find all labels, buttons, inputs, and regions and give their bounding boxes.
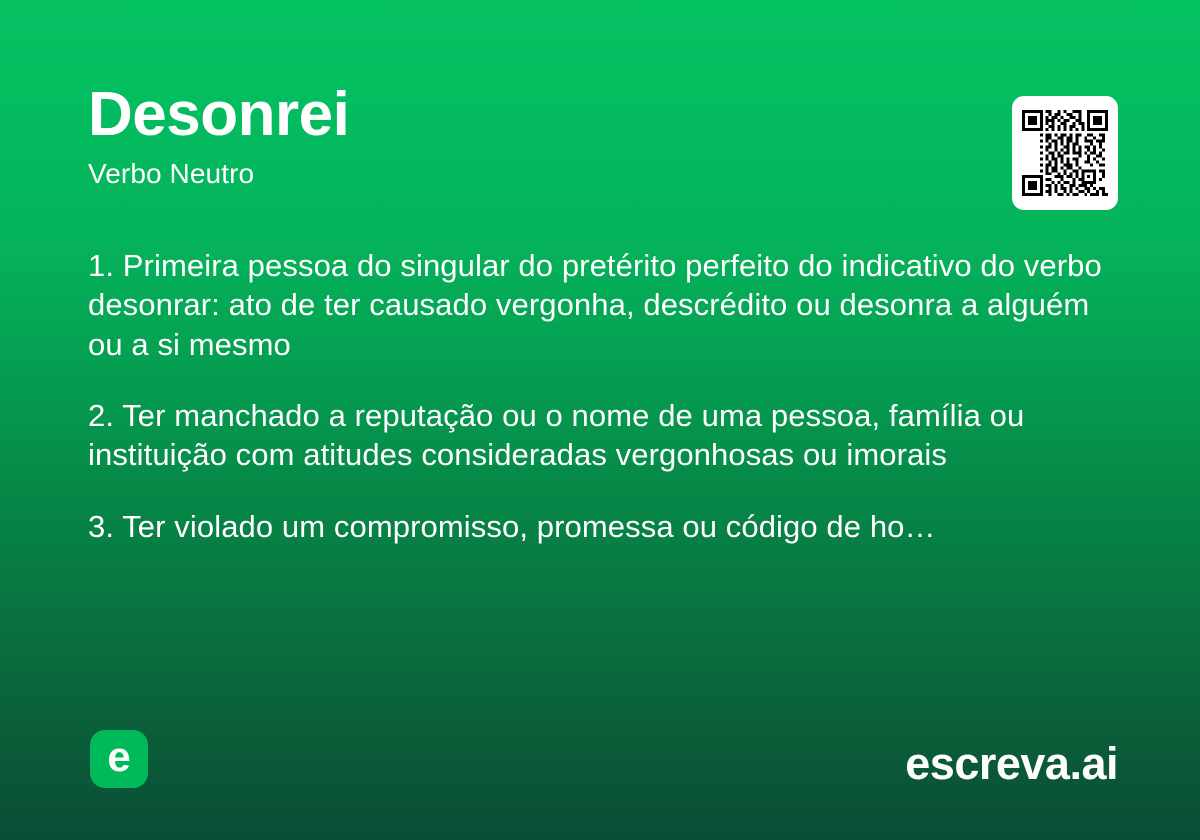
word-class-label: Verbo Neutro — [88, 160, 1112, 188]
qr-code-card[interactable] — [1012, 96, 1118, 210]
card-header: Desonrei Verbo Neutro — [88, 84, 1112, 188]
qr-code-icon — [1022, 110, 1108, 196]
page-title: Desonrei — [88, 84, 1112, 146]
definition-item: 3. Ter violado um compromisso, promessa … — [88, 507, 1104, 546]
dictionary-card: Desonrei Verbo Neutro — [0, 0, 1200, 840]
logo-badge: e — [90, 730, 148, 788]
definition-list: 1. Primeira pessoa do singular do pretér… — [88, 246, 1104, 546]
definition-item: 1. Primeira pessoa do singular do pretér… — [88, 246, 1104, 364]
definition-item: 2. Ter manchado a reputação ou o nome de… — [88, 396, 1104, 475]
logo-letter: e — [107, 736, 130, 778]
brand-wordmark: escreva.ai — [905, 741, 1118, 786]
